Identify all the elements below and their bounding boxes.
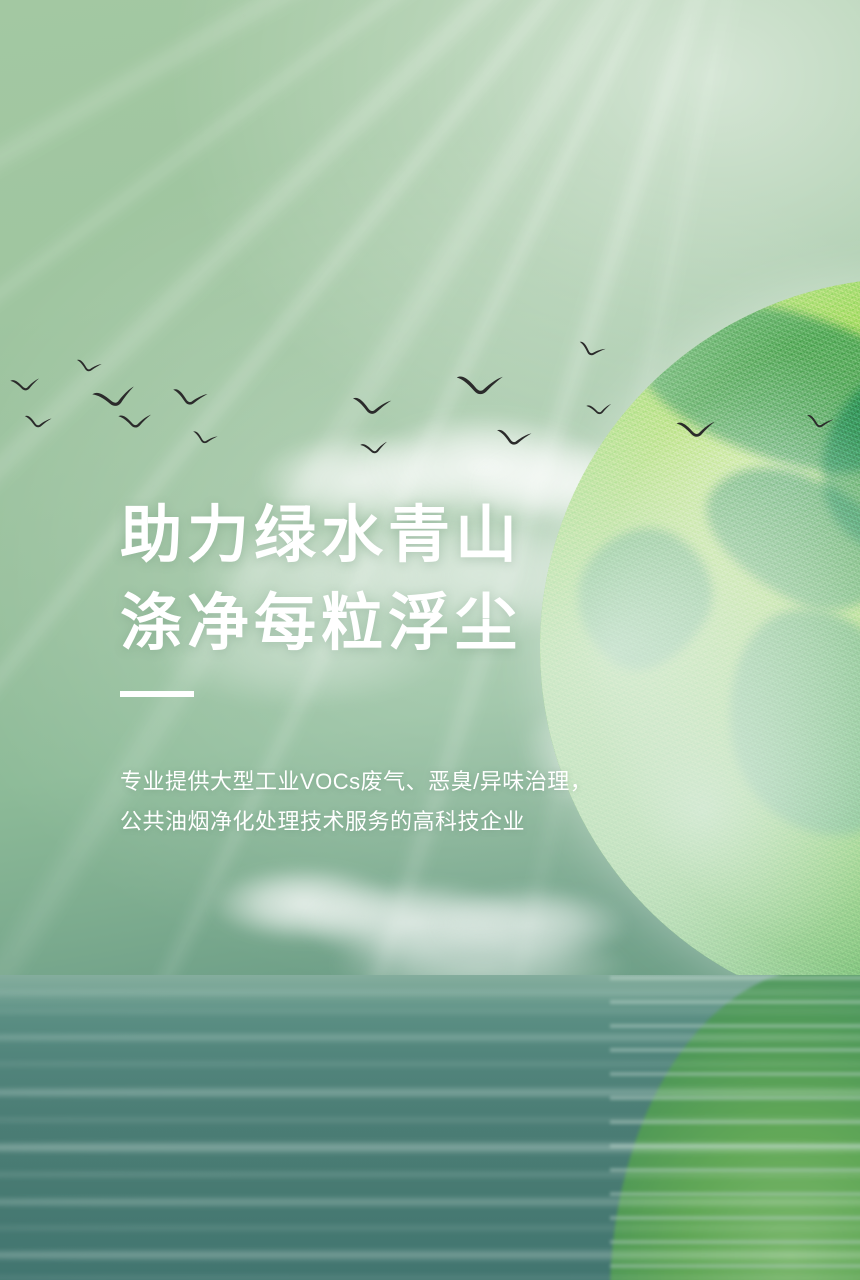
bird-3 xyxy=(90,378,138,412)
cloud-lower-left xyxy=(210,865,400,943)
title-divider xyxy=(120,691,194,697)
bird-6 xyxy=(117,408,152,430)
headline-line-2: 涤净每粒浮尘 xyxy=(120,580,680,668)
ripple-1 xyxy=(0,989,860,996)
ripple-4 xyxy=(0,1061,860,1067)
promo-poster: 助力绿水青山 涤净每粒浮尘 专业提供大型工业VOCs废气、恶臭/异味治理， 公共… xyxy=(0,0,860,1280)
bird-12 xyxy=(585,399,612,417)
hero-copy: 助力绿水青山 涤净每粒浮尘 专业提供大型工业VOCs废气、恶臭/异味治理， 公共… xyxy=(120,492,680,842)
ripple-12 xyxy=(0,1275,860,1280)
ripple-10 xyxy=(0,1225,860,1231)
landmass-mid xyxy=(684,440,860,636)
cloud-lower-mid xyxy=(300,880,530,966)
landmass-east xyxy=(794,323,860,600)
ripple-3 xyxy=(0,1033,860,1042)
subtitle-line-1: 专业提供大型工业VOCs废气、恶臭/异味治理， xyxy=(120,762,680,802)
water-surface xyxy=(0,975,860,1280)
ripple-11 xyxy=(0,1249,860,1261)
bird-10 xyxy=(456,367,505,396)
landmass-south xyxy=(715,597,860,848)
bird-13 xyxy=(495,424,532,447)
ripple-8 xyxy=(0,1171,860,1178)
subtitle-line-2: 公共油烟净化处理技术服务的高科技企业 xyxy=(120,802,680,842)
bird-14 xyxy=(675,414,717,440)
bird-7 xyxy=(352,391,393,416)
headline-line-1: 助力绿水青山 xyxy=(120,492,680,580)
bird-9 xyxy=(191,427,219,446)
bird-4 xyxy=(171,383,209,408)
ripple-2 xyxy=(0,1009,860,1014)
bird-11 xyxy=(576,337,607,360)
ripple-6 xyxy=(0,1117,860,1123)
cloud-lower-right xyxy=(430,885,630,965)
landmass-north xyxy=(622,278,860,496)
bird-15 xyxy=(805,410,835,430)
ripple-9 xyxy=(0,1197,860,1207)
bird-2 xyxy=(75,355,103,374)
globe-reflection xyxy=(610,975,860,1280)
ripple-5 xyxy=(0,1087,860,1098)
bird-8 xyxy=(359,436,389,456)
bird-1 xyxy=(9,372,41,392)
bird-5 xyxy=(23,411,52,429)
ripple-7 xyxy=(0,1141,860,1154)
